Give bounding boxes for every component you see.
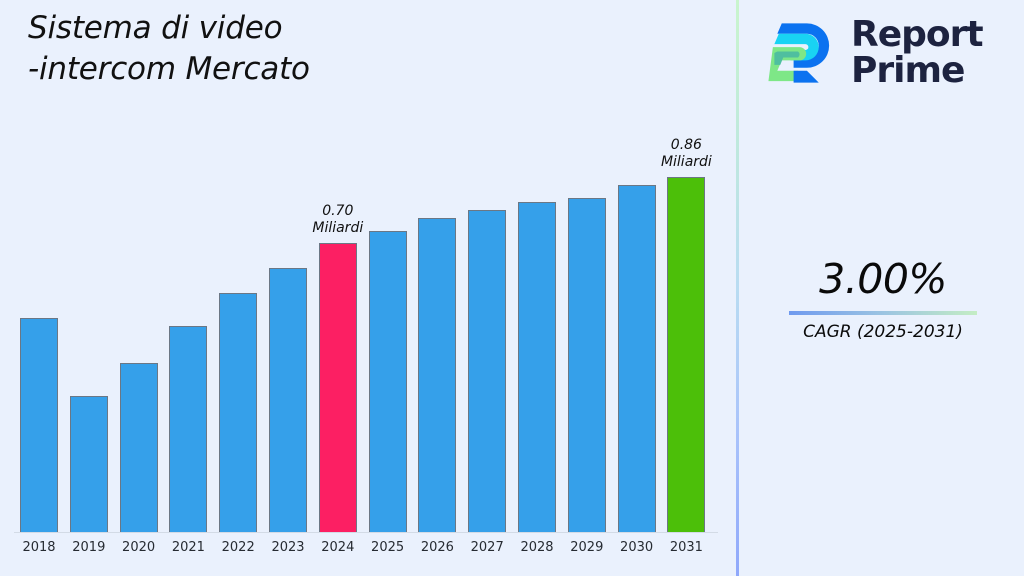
bar-2023[interactable] xyxy=(269,268,307,533)
bar-2024[interactable] xyxy=(319,243,357,533)
x-tick-2026: 2026 xyxy=(410,540,464,555)
cagr-value: 3.00% xyxy=(763,255,1003,303)
bar-2018[interactable] xyxy=(20,318,58,533)
x-tick-2018: 2018 xyxy=(12,540,66,555)
bar-value-label-2024: 0.70 Miliardi xyxy=(288,203,388,237)
chart-panel: Sistema di video -intercom Mercato 20182… xyxy=(0,0,737,576)
bar-2021[interactable] xyxy=(169,326,207,533)
x-axis-line xyxy=(14,532,718,533)
x-tick-2024: 2024 xyxy=(311,540,365,555)
x-tick-2027: 2027 xyxy=(460,540,514,555)
cagr-divider-rule xyxy=(789,311,977,315)
cagr-caption: CAGR (2025-2031) xyxy=(763,321,1003,343)
bar-2026[interactable] xyxy=(418,218,456,533)
x-tick-2023: 2023 xyxy=(261,540,315,555)
x-tick-2031: 2031 xyxy=(659,540,713,555)
x-tick-2025: 2025 xyxy=(361,540,415,555)
bar-2031[interactable] xyxy=(667,177,705,533)
bar-2029[interactable] xyxy=(568,198,606,533)
x-tick-2028: 2028 xyxy=(510,540,564,555)
bar-value-label-2031: 0.86 Miliardi xyxy=(636,137,736,171)
bar-chart-plot-area: 2018201920202021202220232024202520262027… xyxy=(0,0,737,576)
bar-2020[interactable] xyxy=(120,363,158,533)
bar-2022[interactable] xyxy=(219,293,257,533)
x-tick-2019: 2019 xyxy=(62,540,116,555)
x-tick-2021: 2021 xyxy=(161,540,215,555)
x-tick-2022: 2022 xyxy=(211,540,265,555)
bar-2030[interactable] xyxy=(618,185,656,533)
cagr-block: 3.00% CAGR (2025-2031) xyxy=(763,255,1003,343)
x-tick-2030: 2030 xyxy=(610,540,664,555)
bar-2027[interactable] xyxy=(468,210,506,533)
x-tick-2020: 2020 xyxy=(112,540,166,555)
side-panel: Report Prime 3.00% CAGR (2025-2031) xyxy=(739,0,1024,576)
x-tick-2029: 2029 xyxy=(560,540,614,555)
bar-2025[interactable] xyxy=(369,231,407,533)
brand-logo-text: Report Prime xyxy=(851,17,983,89)
bar-2028[interactable] xyxy=(518,202,556,533)
report-prime-logo-icon xyxy=(764,16,838,90)
bar-2019[interactable] xyxy=(70,396,108,533)
brand-logo: Report Prime xyxy=(764,12,1009,94)
